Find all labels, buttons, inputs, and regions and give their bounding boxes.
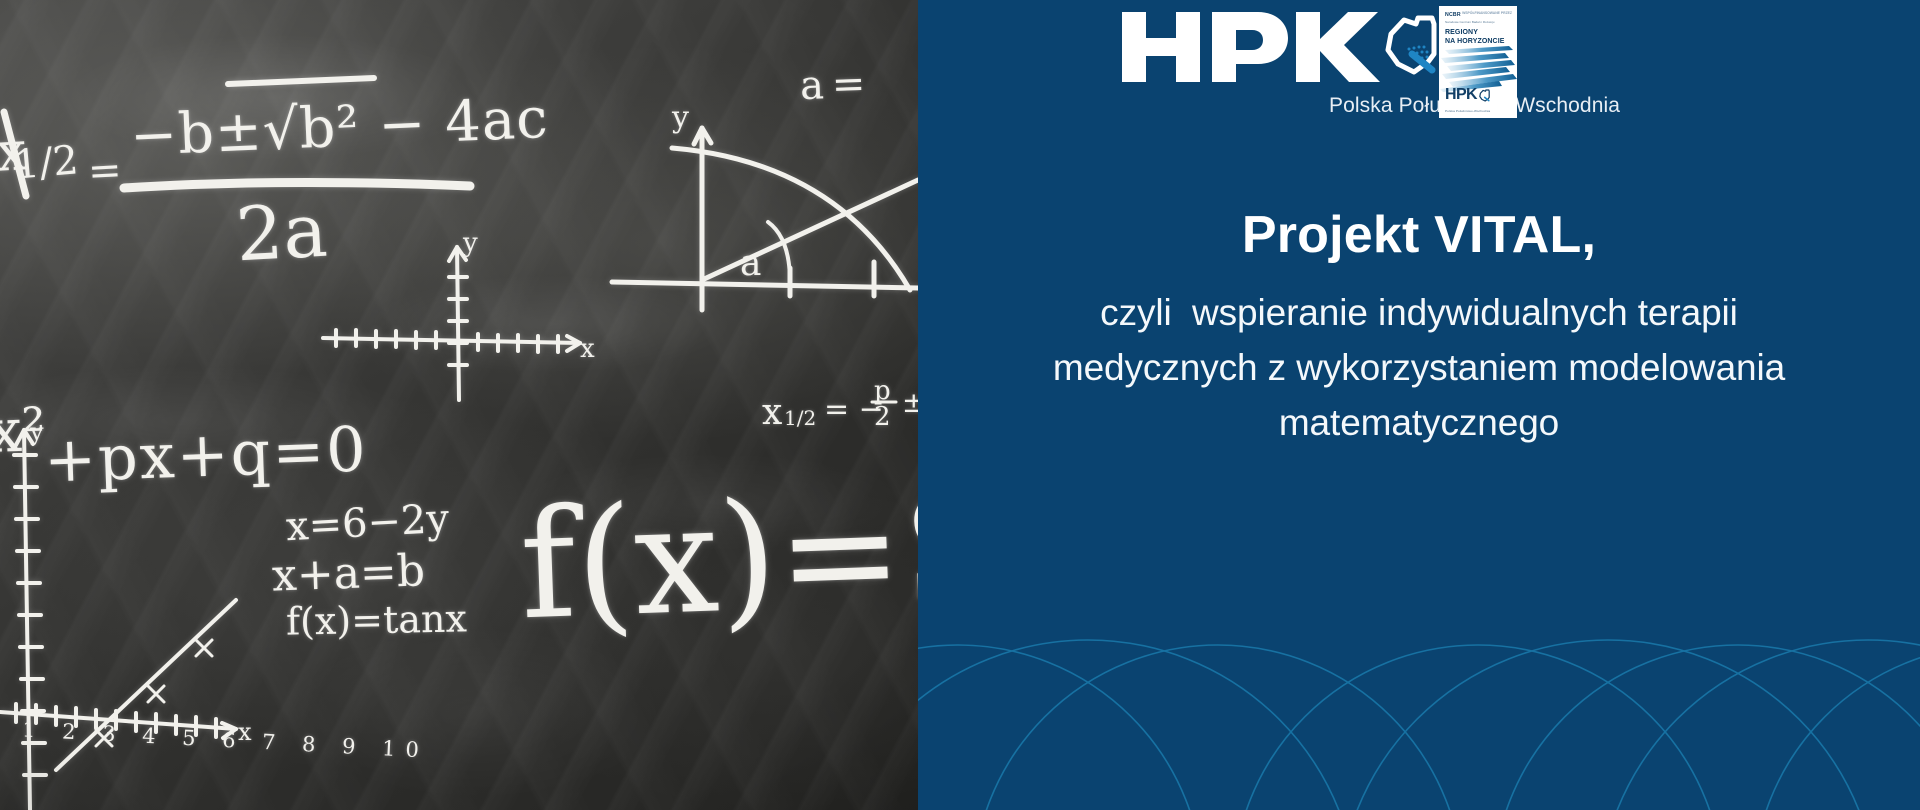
subtitle-line-2: medycznych z wykorzystaniem modelowania xyxy=(932,341,1906,396)
ncbr-slogan-line1: REGIONY xyxy=(1445,29,1478,36)
page-title: Projekt VITAL, xyxy=(932,206,1906,264)
photo-vignette xyxy=(0,0,918,810)
ncbr-cofinance-note: WSPÓŁFINANSOWANE PRZEZ xyxy=(1462,11,1512,16)
poland-outline-icon-small xyxy=(1479,89,1490,102)
title-panel: Polska Południowo-Wschodnia NCBR Narodow… xyxy=(918,0,1920,810)
hpk-wordmark xyxy=(1122,8,1440,86)
badge-footer-hpk-text: HPK xyxy=(1445,86,1477,104)
subtitle-line-3: matematycznego xyxy=(932,396,1906,451)
speed-lines-graphic xyxy=(1439,44,1517,92)
badge-footer-wordmark: HPK xyxy=(1445,86,1490,104)
logo-block: Polska Południowo-Wschodnia NCBR Narodow… xyxy=(918,0,1920,140)
ncbr-org-short: NCBR xyxy=(1445,12,1461,18)
ncbr-badge: NCBR Narodowe Centrum Badań i Rozwoju WS… xyxy=(1439,6,1517,118)
chalkboard-photo: x 1/2 = −b±√b² − 4ac 2a xyxy=(0,0,918,810)
presentation-slide: x 1/2 = −b±√b² − 4ac 2a xyxy=(0,0,1920,810)
headline-block: Projekt VITAL, czyli wspieranie indywidu… xyxy=(918,206,1920,450)
badge-footer-subtitle: Polska Południowo-Wschodnia xyxy=(1445,109,1490,113)
poland-outline-icon xyxy=(1388,18,1434,72)
ncbr-org-sub: Narodowe Centrum Badań i Rozwoju xyxy=(1445,20,1494,24)
decorative-arcs xyxy=(918,480,1920,810)
hpk-logo: Polska Południowo-Wschodnia xyxy=(1122,8,1440,86)
subtitle-line-1: czyli wspieranie indywidualnych terapii xyxy=(932,286,1906,341)
